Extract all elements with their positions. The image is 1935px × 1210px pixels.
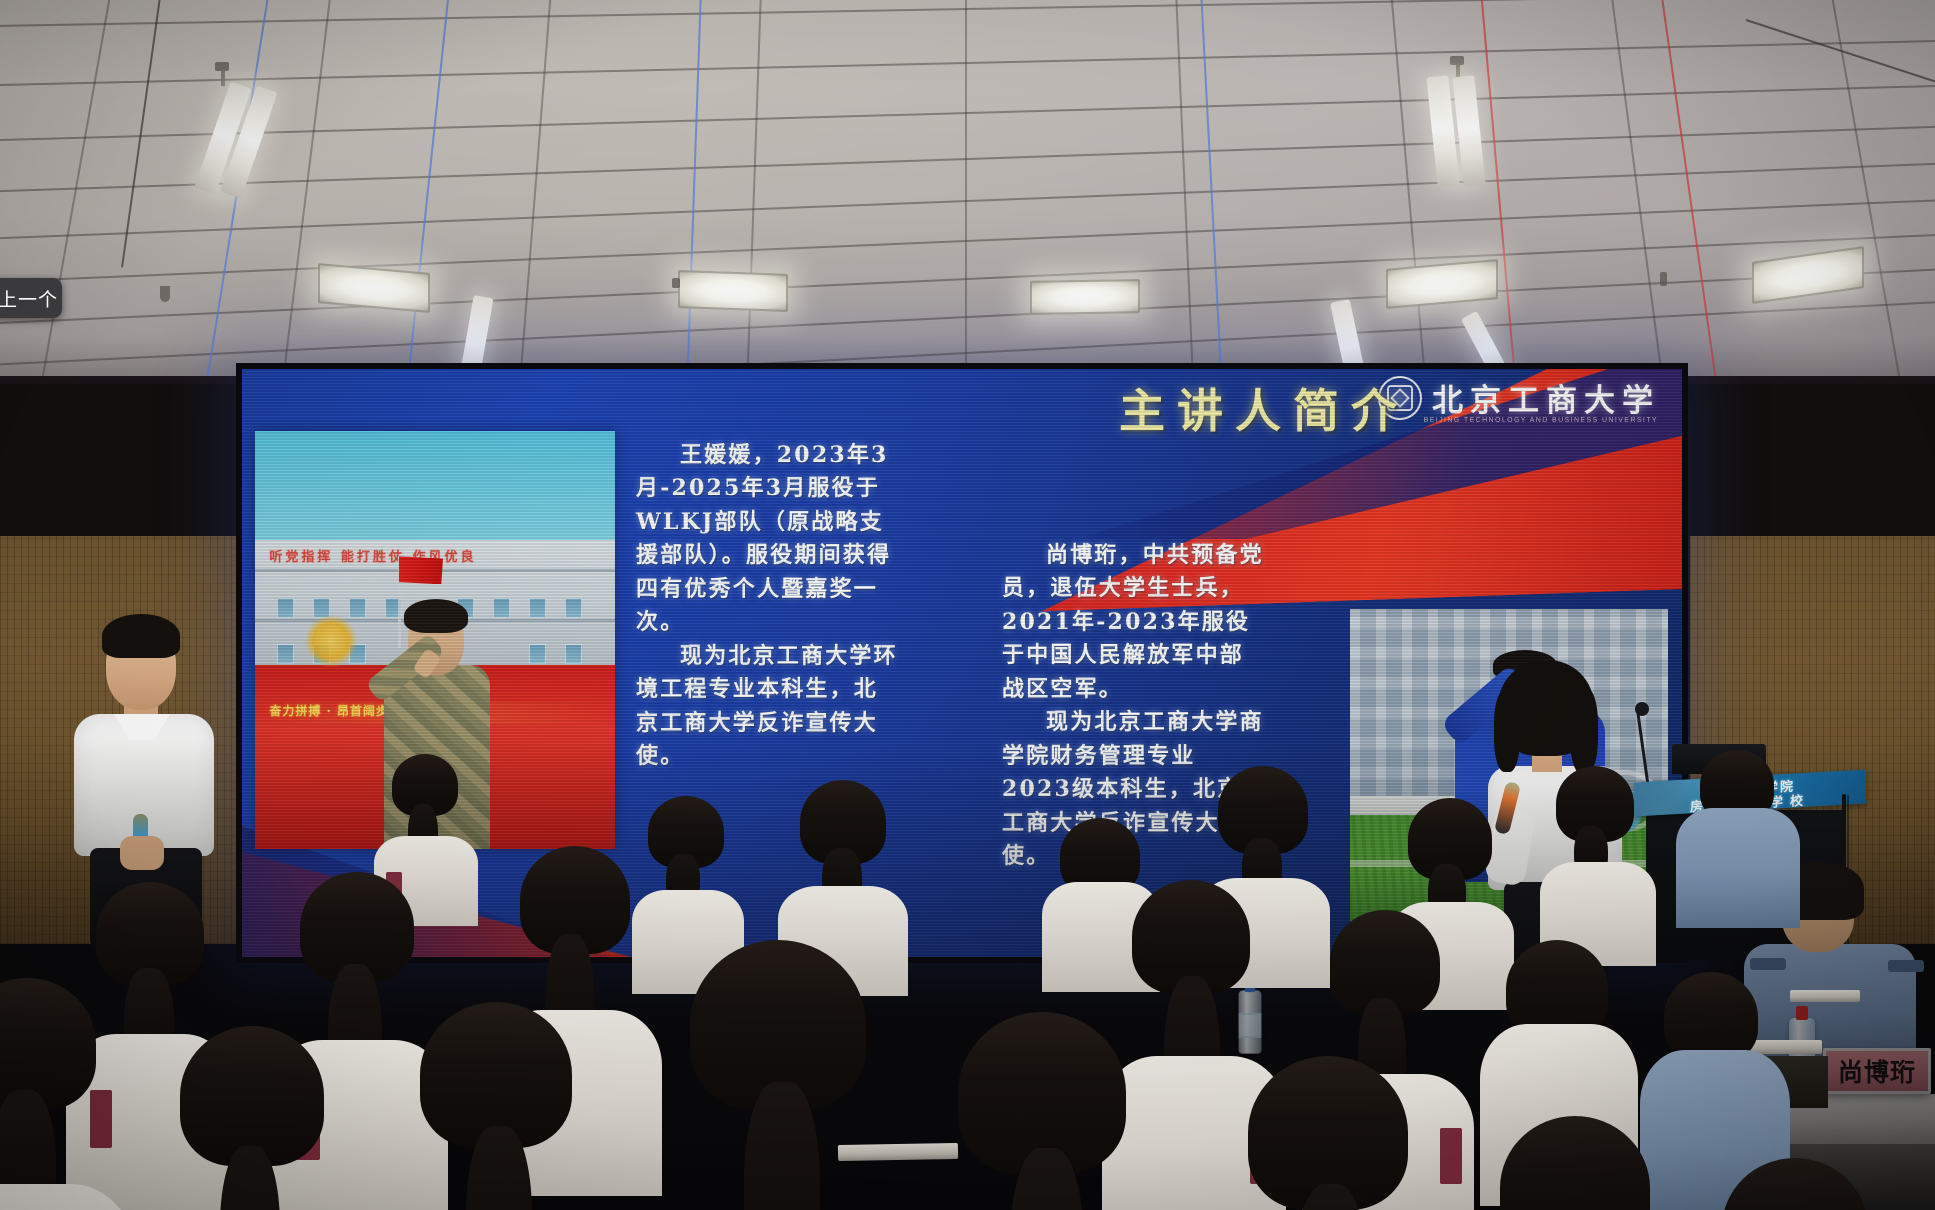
recessed-ceiling-light	[1030, 279, 1140, 315]
slide-title: 主讲人简介	[954, 375, 1574, 441]
screenshot-root: 北京工商大学 BEIJING TECHNOLOGY AND BUSINESS U…	[0, 0, 1935, 1210]
student-desk	[838, 1143, 958, 1161]
ceiling-cable	[685, 0, 702, 392]
party-emblem-icon	[305, 615, 357, 667]
previous-tooltip-label: 上一个	[0, 285, 58, 312]
ceiling-cable	[403, 0, 450, 392]
podium-microphone-icon	[1635, 702, 1649, 716]
bio-right-paragraph-1: 尚博珩，中共预备党员，退伍大学生士兵，2021年-2023年服役于中国人民解放军…	[1002, 539, 1264, 706]
recessed-ceiling-light	[318, 263, 430, 313]
recessed-ceiling-light	[1386, 259, 1498, 309]
ceiling-cable	[1746, 19, 1935, 83]
ceiling-cable	[1660, 0, 1723, 392]
student-desk	[1790, 990, 1860, 1002]
slide-bio-left: 王媛媛，2023年3月-2025年3月服役于WLKJ部队（原战略支援部队）。服役…	[636, 439, 898, 773]
ceiling	[0, 0, 1935, 392]
bio-left-paragraph-1: 王媛媛，2023年3月-2025年3月服役于WLKJ部队（原战略支援部队）。服役…	[636, 439, 898, 640]
audience-area	[0, 740, 1935, 1210]
china-flag-icon	[399, 556, 443, 584]
previous-tooltip[interactable]: 上一个	[0, 278, 62, 318]
ceiling-cable	[1200, 0, 1225, 392]
recessed-ceiling-light	[1752, 246, 1864, 304]
recessed-ceiling-light	[678, 270, 788, 312]
